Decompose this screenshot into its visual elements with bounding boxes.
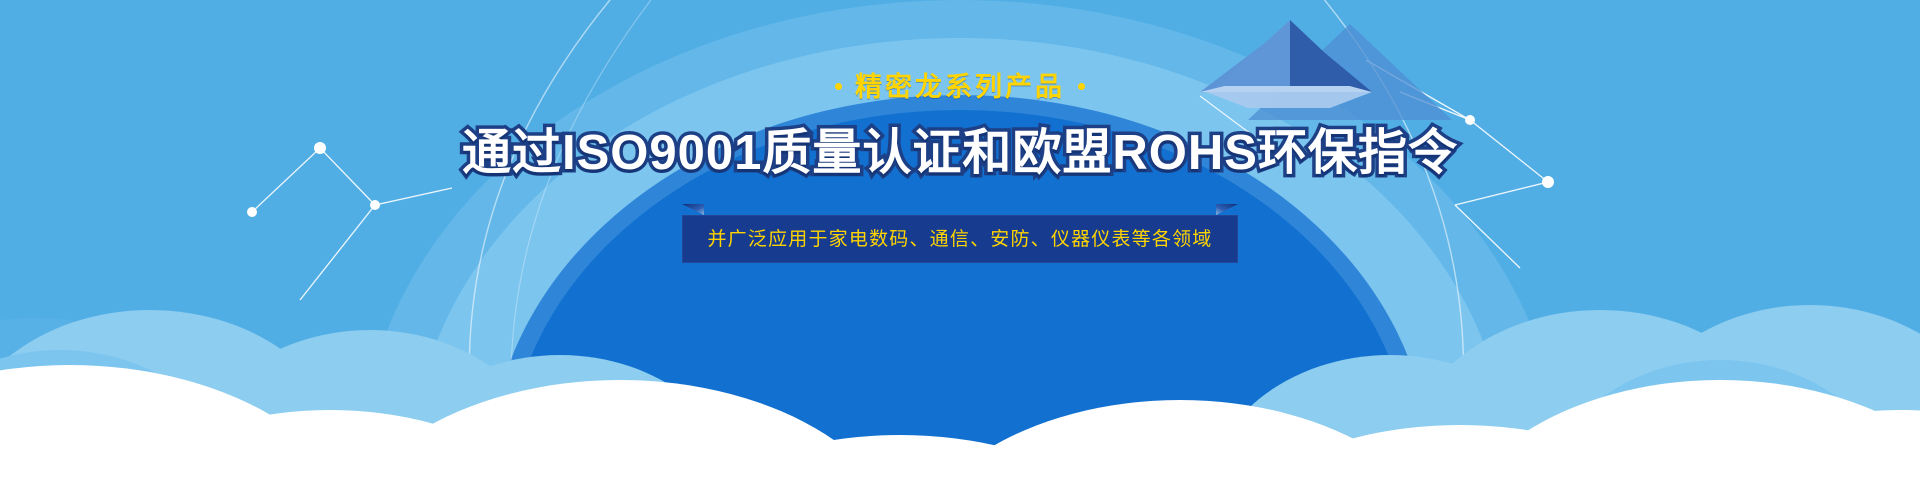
cloud-band	[0, 0, 1920, 480]
promo-banner: 精密龙系列产品 通过ISO9001质量认证和欧盟ROHS环保指令 并广泛应用于家…	[0, 0, 1920, 480]
